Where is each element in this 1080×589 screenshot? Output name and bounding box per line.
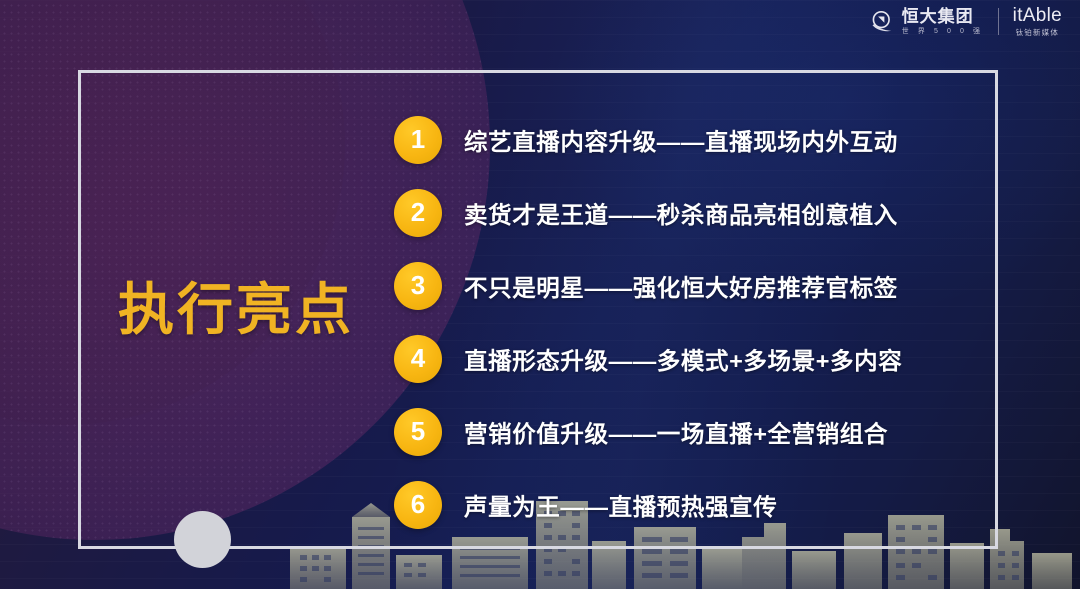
logo-divider (998, 8, 999, 35)
list-item-number-badge: 5 (394, 408, 442, 456)
slide-root: 恒大集团 世 界 5 0 0 强 itAble 钛铂新媒体 执行亮点 1 综艺直… (0, 0, 1080, 589)
evergrande-text-block: 恒大集团 世 界 5 0 0 强 (902, 8, 984, 35)
list-item: 6 声量为王——直播预热强宣传 (394, 468, 974, 541)
list-item-number-badge: 4 (394, 335, 442, 383)
list-item-label: 综艺直播内容升级——直播现场内外互动 (464, 123, 898, 157)
list-item-number-badge: 3 (394, 262, 442, 310)
list-item: 4 直播形态升级——多模式+多场景+多内容 (394, 322, 974, 395)
itable-logo: itAble 钛铂新媒体 (1013, 6, 1062, 37)
itable-wordmark: itAble (1013, 6, 1062, 25)
page-title: 执行亮点 (118, 282, 354, 338)
evergrande-logo-icon (870, 9, 895, 34)
evergrande-name: 恒大集团 (902, 8, 984, 25)
list-item-number-badge: 2 (394, 189, 442, 237)
list-item: 2 卖货才是王道——秒杀商品亮相创意植入 (394, 176, 974, 249)
list-item-label: 不只是明星——强化恒大好房推荐官标签 (464, 269, 898, 303)
grey-circle-decoration (174, 511, 231, 568)
evergrande-logo: 恒大集团 世 界 5 0 0 强 (870, 8, 984, 35)
list-item-label: 直播形态升级——多模式+多场景+多内容 (464, 342, 902, 376)
list-item-number-badge: 1 (394, 116, 442, 164)
list-item-number-badge: 6 (394, 481, 442, 529)
list-item-label: 声量为王——直播预热强宣传 (464, 488, 777, 522)
list-item: 3 不只是明星——强化恒大好房推荐官标签 (394, 249, 974, 322)
list-item-label: 营销价值升级——一场直播+全营销组合 (464, 415, 888, 449)
list-item: 1 综艺直播内容升级——直播现场内外互动 (394, 103, 974, 176)
header-logo-group: 恒大集团 世 界 5 0 0 强 itAble 钛铂新媒体 (870, 6, 1062, 37)
list-item-label: 卖货才是王道——秒杀商品亮相创意植入 (464, 196, 898, 230)
itable-subtitle: 钛铂新媒体 (1016, 29, 1060, 37)
highlight-list: 1 综艺直播内容升级——直播现场内外互动 2 卖货才是王道——秒杀商品亮相创意植… (394, 103, 974, 541)
list-item: 5 营销价值升级——一场直播+全营销组合 (394, 395, 974, 468)
evergrande-subtitle: 世 界 5 0 0 强 (902, 28, 984, 35)
